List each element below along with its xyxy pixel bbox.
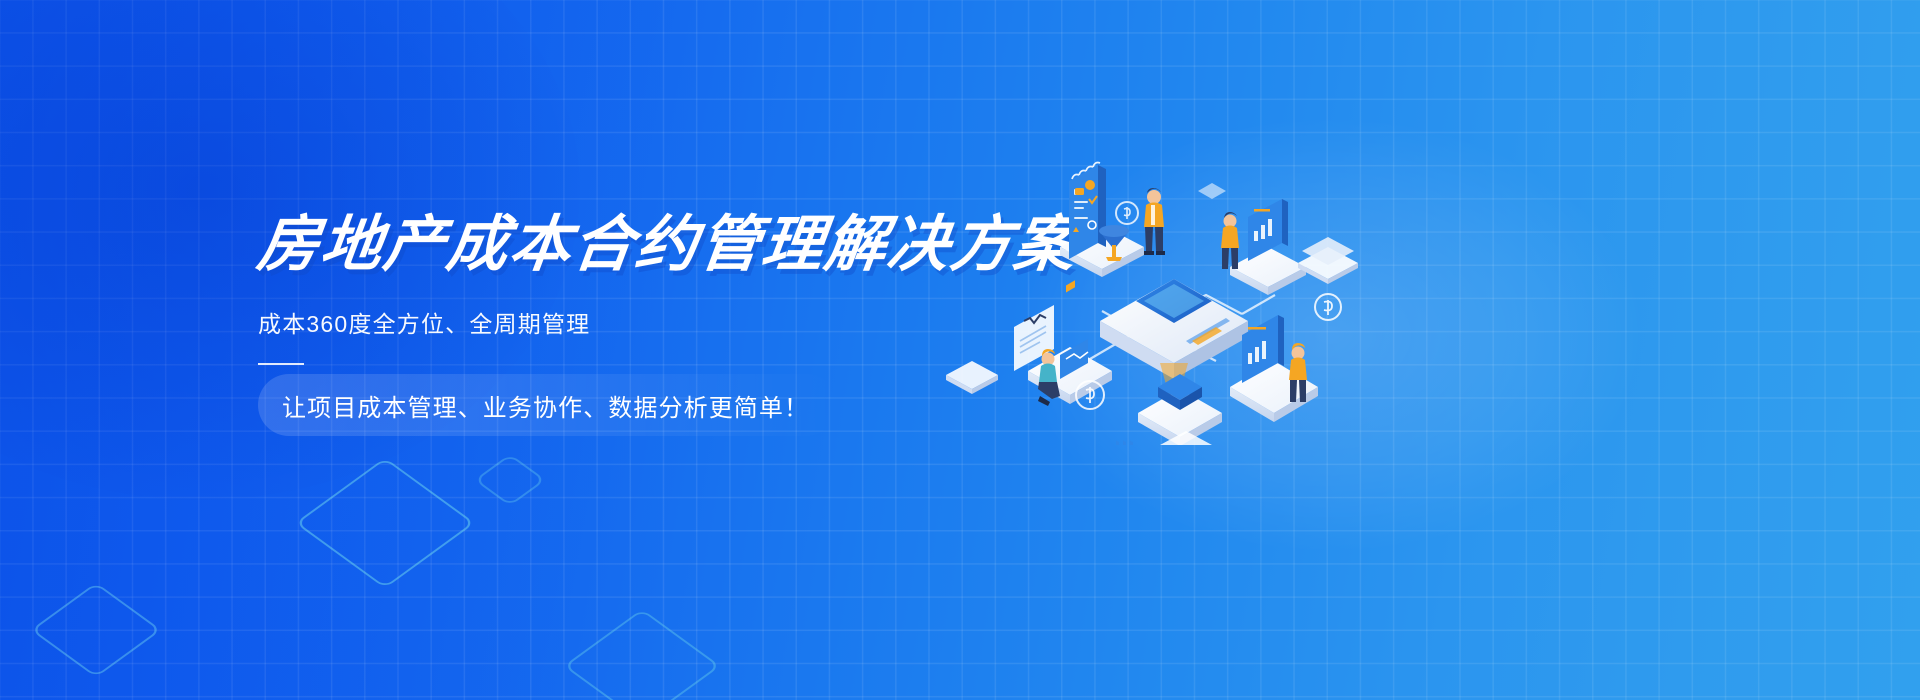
chart-screen-platform (1230, 199, 1306, 295)
card-stack-left (946, 361, 998, 394)
isometric-project-collaboration-illustration (930, 155, 1400, 445)
tablet-screen-small (1060, 280, 1088, 379)
character-presenting-orange (1221, 212, 1239, 269)
floating-square-top (1198, 183, 1226, 199)
hero-tagline-pill: 让项目成本管理、业务协作、数据分析更简单！ (258, 374, 837, 436)
diamond-3 (563, 609, 720, 700)
hero-text-block: 房地产成本合约管理解决方案 成本360度全方位、全周期管理 (258, 210, 998, 365)
coin-icon-center (1116, 202, 1138, 224)
coin-icon-right (1315, 294, 1341, 320)
card-stack-right (1298, 237, 1358, 284)
character-standing-orange (1144, 188, 1165, 255)
document-laptop-platform (1014, 280, 1112, 404)
page-title: 房地产成本合约管理解决方案 (254, 210, 1002, 278)
diamond-4 (474, 454, 546, 506)
calendar-board-platform (1060, 163, 1144, 278)
hero-banner: 房地产成本合约管理解决方案 成本360度全方位、全周期管理 让项目成本管理、业务… (0, 0, 1920, 700)
hero-tagline: 让项目成本管理、业务协作、数据分析更简单！ (282, 388, 809, 423)
title-divider (258, 363, 304, 365)
hero-subtitle: 成本360度全方位、全周期管理 (258, 308, 998, 340)
diamond-2 (295, 458, 475, 589)
diamond-1 (30, 582, 161, 677)
